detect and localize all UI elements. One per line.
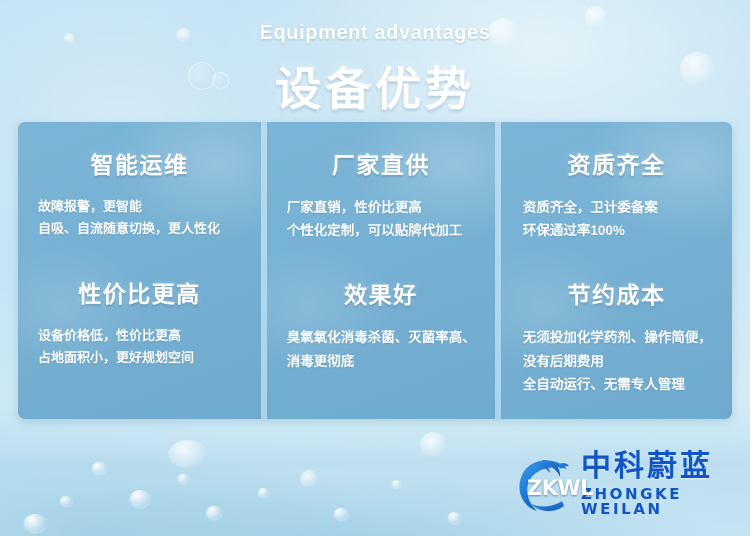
advantage-block-effectiveness: 效果好 臭氧氧化消毒杀菌、灭菌率高、 消毒更彻底 [281, 276, 481, 372]
advantage-line: 个性化定制，可以贴牌代加工 [281, 219, 481, 242]
advantage-line: 环保通过率100% [515, 219, 718, 242]
advantage-block-smart-ops: 智能运维 故障报警，更智能 自吸、自流随意切换，更人性化 [32, 146, 247, 241]
header-title-chinese: 设备优势 [0, 53, 750, 119]
advantage-line: 消毒更彻底 [281, 350, 481, 373]
logo-name-english: ZHONGKE WEILAN [581, 487, 750, 517]
dolphin-wave-circle-icon: ZKWL [515, 454, 577, 516]
advantage-line: 设备价格低，性价比更高 [32, 325, 247, 347]
advantage-block-cost-saving: 节约成本 无须投加化学药剂、操作简便， 没有后期费用 全自动运行、无需专人管理 [515, 276, 718, 396]
advantage-title: 智能运维 [32, 146, 247, 180]
header-subtitle-english: Equipment advantages [0, 22, 750, 45]
advantage-block-qualifications: 资质齐全 资质齐全，卫计委备案 环保通过率100% [515, 146, 718, 242]
advantage-line: 故障报警，更智能 [32, 196, 247, 218]
logo-name-chinese: 中科蔚蓝 [581, 452, 750, 482]
brand-logo: ZKWL 中科蔚蓝 ZHONGKE WEILAN [515, 452, 750, 517]
advantage-title: 厂家直供 [281, 146, 481, 180]
logo-monogram: ZKWL [527, 476, 593, 500]
advantage-title: 性价比更高 [32, 275, 247, 309]
advantage-line: 厂家直销，性价比更高 [281, 196, 481, 219]
advantage-column-2: 厂家直供 厂家直销，性价比更高 个性化定制，可以贴牌代加工 效果好 臭氧氧化消毒… [267, 122, 495, 419]
advantage-line: 无须投加化学药剂、操作简便， [515, 326, 718, 349]
advantages-panel-group: 智能运维 故障报警，更智能 自吸、自流随意切换，更人性化 性价比更高 设备价格低… [18, 122, 732, 419]
advantage-title: 节约成本 [515, 276, 718, 310]
advantage-line: 全自动运行、无需专人管理 [515, 373, 718, 396]
advantage-title: 资质齐全 [515, 146, 718, 180]
logo-wordmark: 中科蔚蓝 ZHONGKE WEILAN [581, 452, 750, 517]
advantage-line: 臭氧氧化消毒杀菌、灭菌率高、 [281, 326, 481, 349]
advantage-column-1: 智能运维 故障报警，更智能 自吸、自流随意切换，更人性化 性价比更高 设备价格低… [18, 122, 261, 419]
advantage-block-cost-performance: 性价比更高 设备价格低，性价比更高 占地面积小，更好规划空间 [32, 275, 247, 370]
promo-banner: Equipment advantages 设备优势 智能运维 故障报警，更智能 … [0, 0, 750, 536]
advantage-block-factory-direct: 厂家直供 厂家直销，性价比更高 个性化定制，可以贴牌代加工 [281, 146, 481, 242]
advantage-line: 占地面积小，更好规划空间 [32, 347, 247, 369]
advantage-line: 资质齐全，卫计委备案 [515, 196, 718, 219]
advantage-title: 效果好 [281, 276, 481, 310]
advantage-line: 自吸、自流随意切换，更人性化 [32, 218, 247, 240]
advantage-line: 没有后期费用 [515, 350, 718, 373]
advantage-column-3: 资质齐全 资质齐全，卫计委备案 环保通过率100% 节约成本 无须投加化学药剂、… [501, 122, 732, 419]
banner-header: Equipment advantages 设备优势 [0, 0, 750, 119]
